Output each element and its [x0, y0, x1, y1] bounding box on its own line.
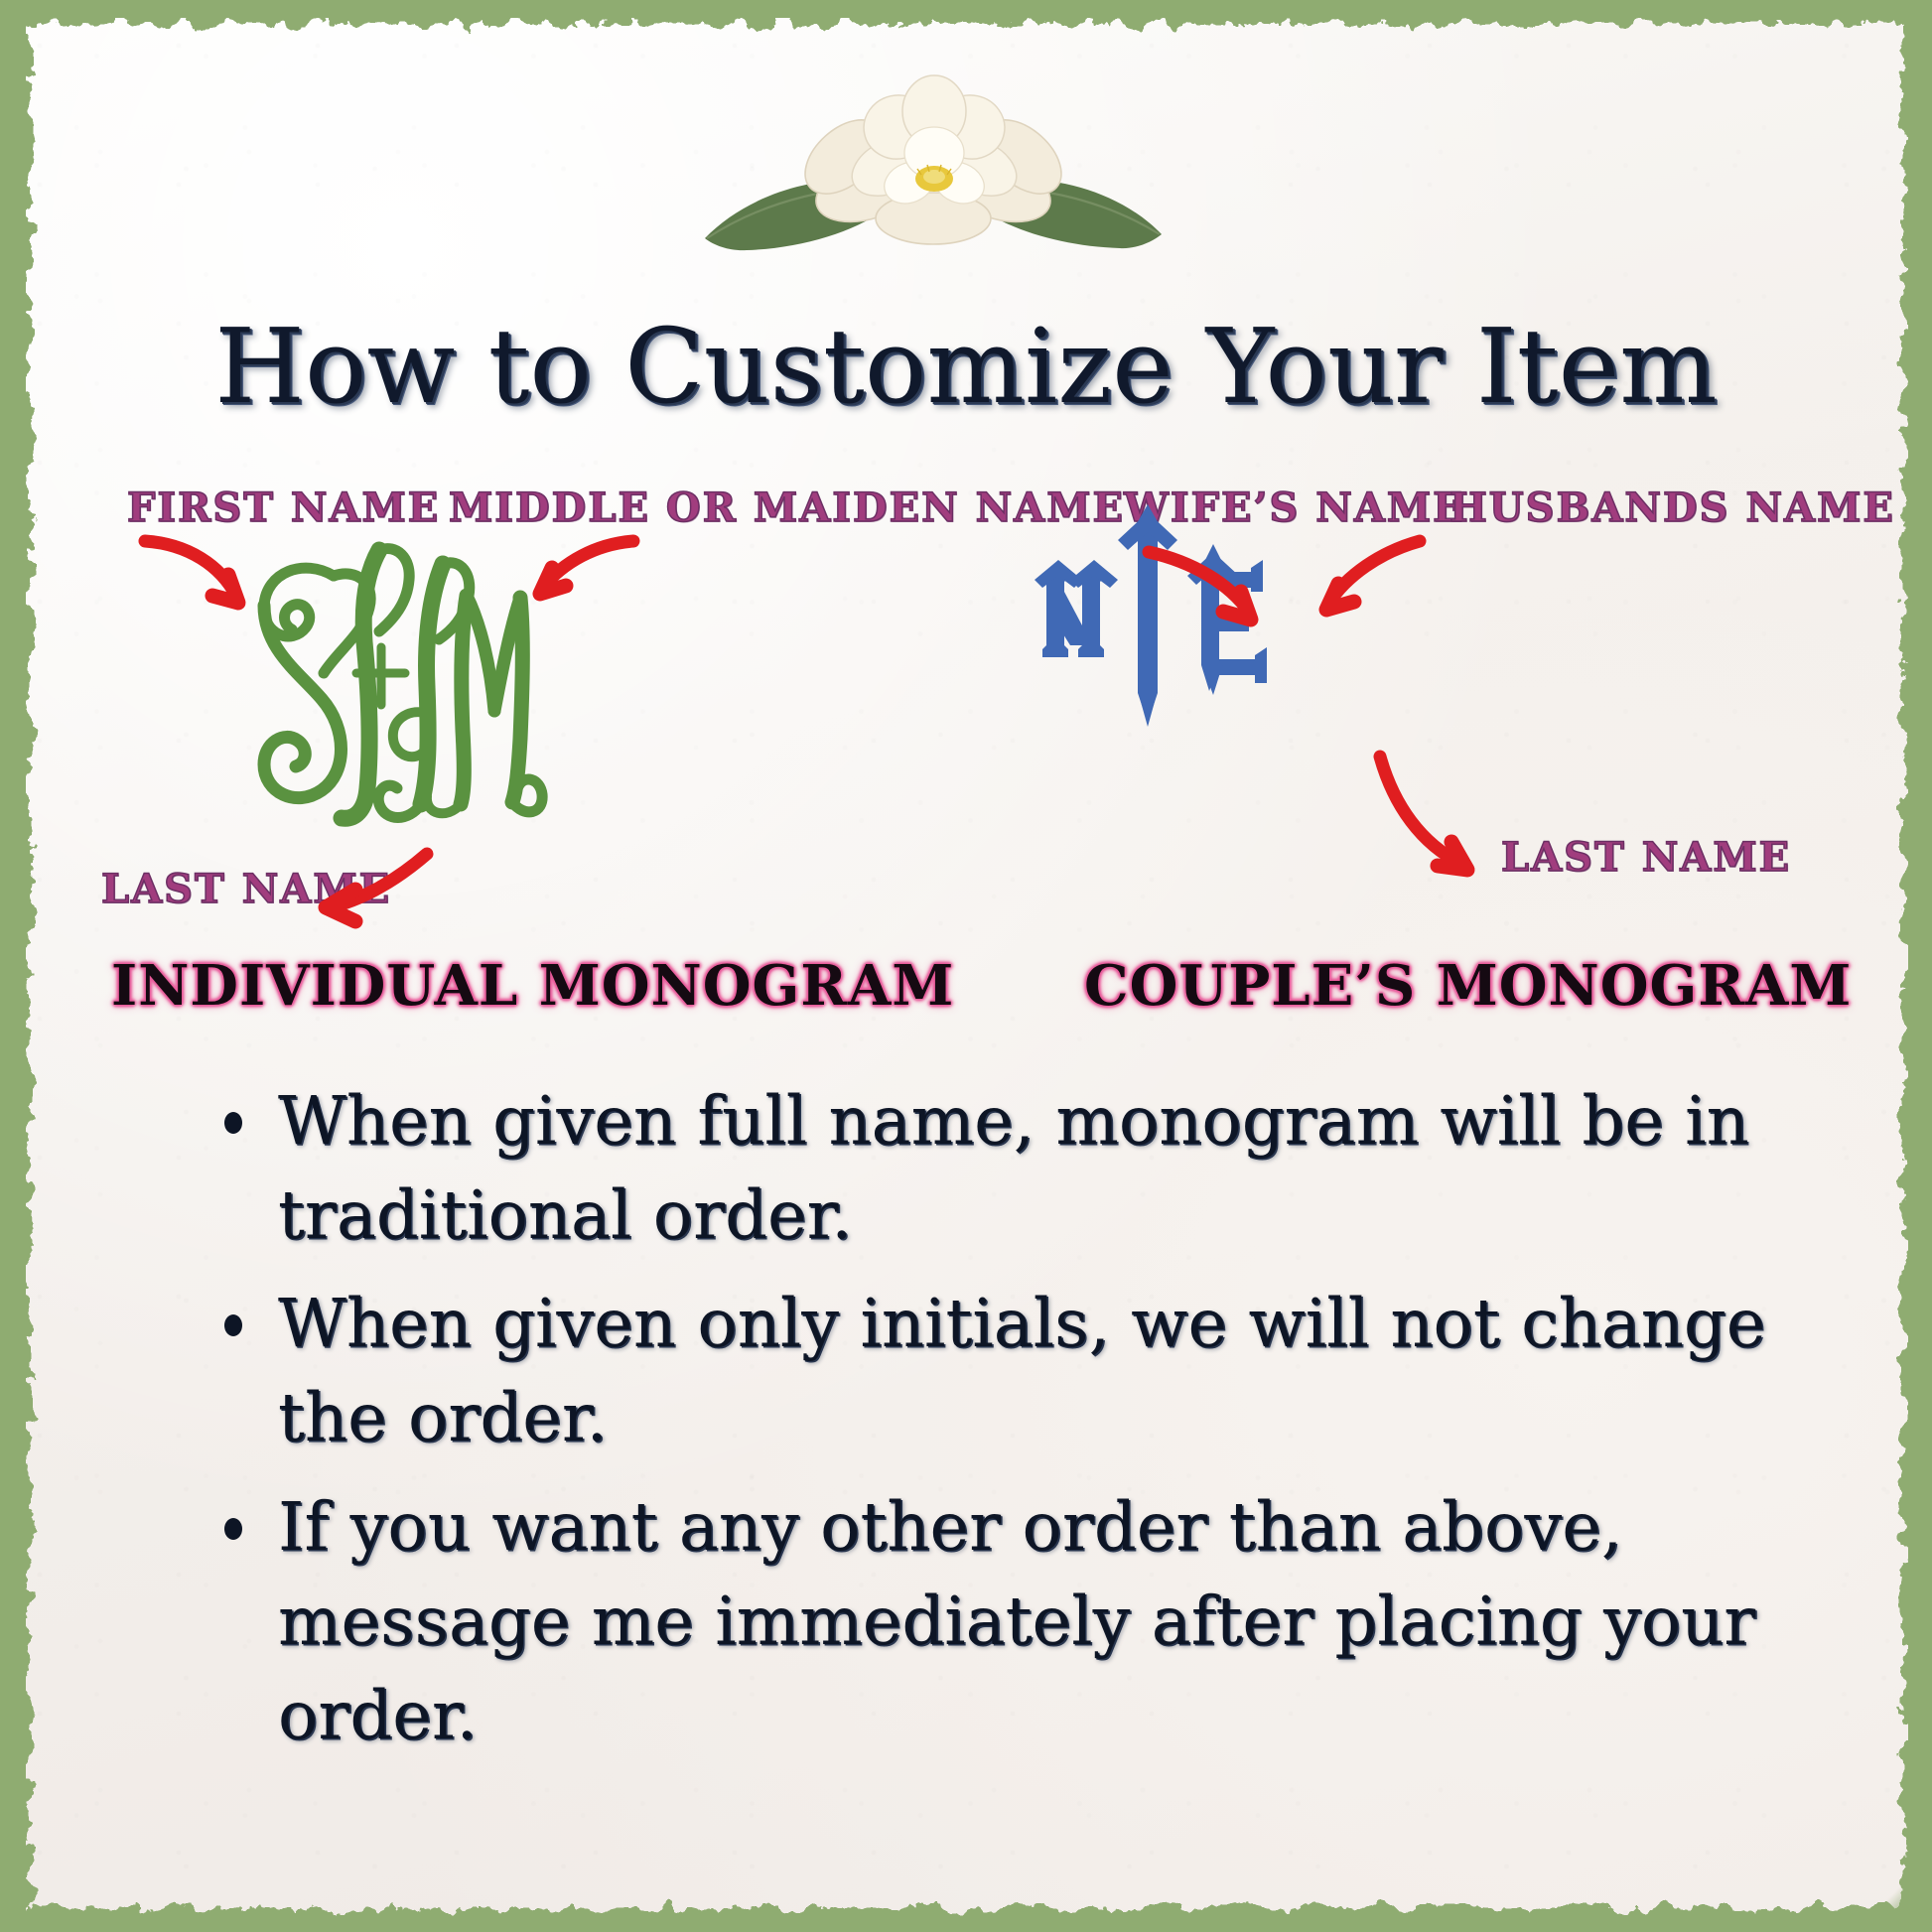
heading-couple-monogram: COUPLE’S MONOGRAM — [1084, 953, 1852, 1019]
magnolia-flower-icon — [695, 71, 1172, 270]
arrow-middle-name-to-monogram — [540, 541, 633, 594]
individual-monogram-graphic — [230, 524, 548, 842]
couple-monogram-graphic — [1013, 496, 1291, 764]
list-item-text: When given full name, monogram will be i… — [278, 1082, 1749, 1254]
arrow-husbands-name-to-monogram — [1326, 541, 1420, 610]
list-item: If you want any other order than above, … — [220, 1480, 1769, 1763]
list-item-text: When given only initials, we will not ch… — [278, 1285, 1765, 1456]
list-item: When given only initials, we will not ch… — [220, 1277, 1769, 1465]
bullet-dot-icon — [224, 1112, 242, 1134]
notes-list: When given full name, monogram will be i… — [220, 1074, 1769, 1777]
page-title: How to Customize Your Item — [0, 306, 1932, 427]
caption-last-name-couple: LAST NAME — [1501, 834, 1791, 881]
caption-husbands-name: HUSBANDS NAME — [1449, 484, 1895, 531]
heading-individual-monogram: INDIVIDUAL MONOGRAM — [111, 953, 954, 1019]
arrow-couple-last-name-to-monogram — [1380, 757, 1467, 870]
bullet-dot-icon — [224, 1518, 242, 1540]
arrow-first-name-to-monogram — [145, 541, 238, 603]
caption-last-name-individual: LAST NAME — [101, 866, 391, 912]
bullet-dot-icon — [224, 1314, 242, 1336]
list-item: When given full name, monogram will be i… — [220, 1074, 1769, 1263]
list-item-text: If you want any other order than above, … — [278, 1488, 1755, 1754]
